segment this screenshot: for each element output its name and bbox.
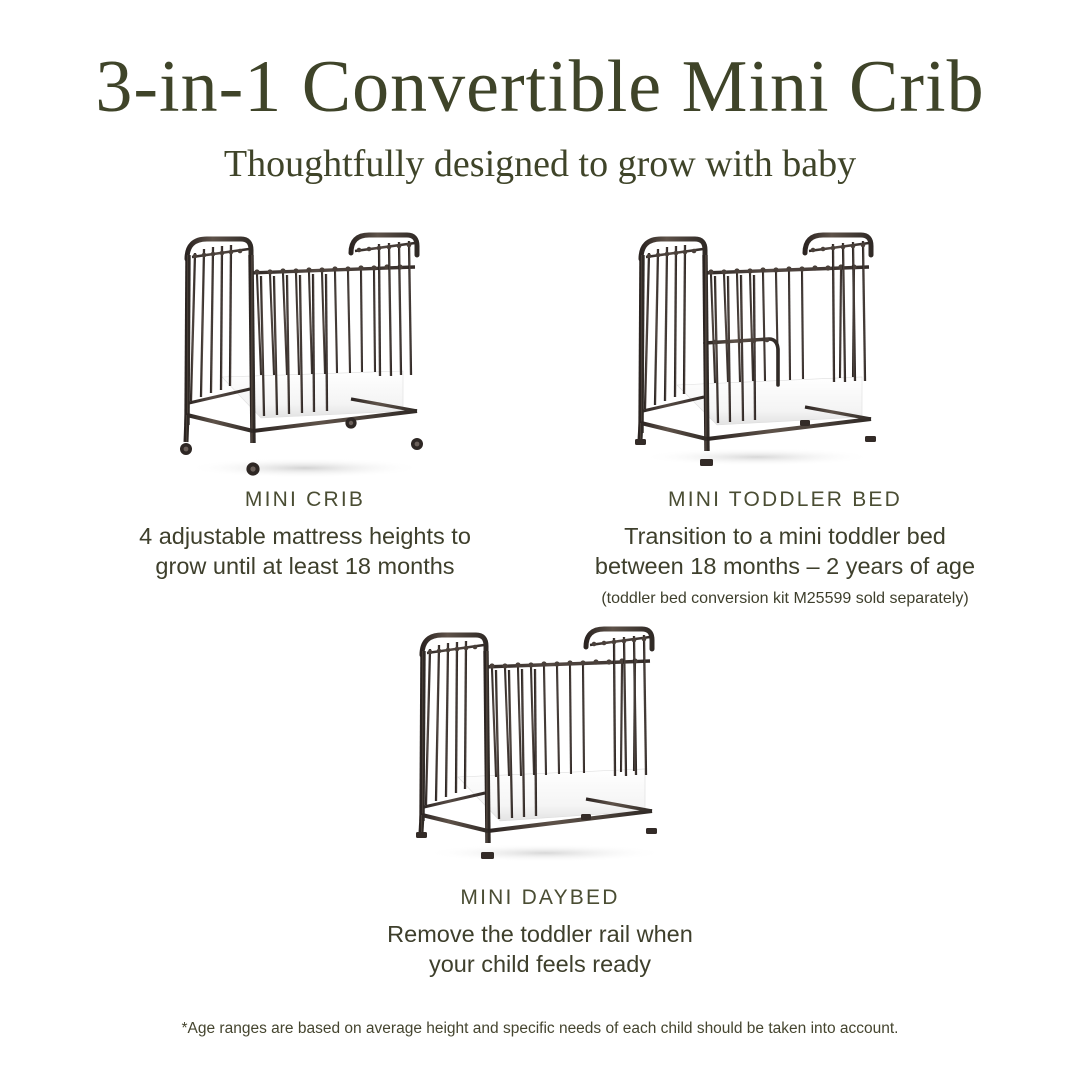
caption-line-2: grow until at least 18 months bbox=[55, 551, 555, 581]
right-panel-spindles bbox=[813, 241, 865, 383]
page-title: 3-in-1 Convertible Mini Crib bbox=[0, 44, 1080, 130]
caption-note-conversion-kit: (toddler bed conversion kit M25599 sold … bbox=[545, 587, 1025, 611]
caption-line-1: Remove the toddler rail when bbox=[290, 919, 790, 949]
floor-shadow bbox=[187, 458, 423, 478]
mini-crib-illustration bbox=[165, 225, 435, 480]
post-front-center bbox=[486, 651, 488, 843]
post-front-center bbox=[251, 255, 253, 443]
floor-shadow bbox=[641, 448, 873, 466]
caption-title-mini-daybed: MINI DAYBED bbox=[290, 886, 790, 910]
caption-line-2: between 18 months – 2 years of age bbox=[545, 551, 1025, 581]
product-infographic: 3-in-1 Convertible Mini Crib Thoughtfull… bbox=[0, 0, 1080, 1080]
caption-line-1: 4 adjustable mattress heights to bbox=[55, 521, 555, 551]
caption-mini-toddler-bed: MINI TODDLER BED Transition to a mini to… bbox=[545, 488, 1025, 611]
caption-line-1: Transition to a mini toddler bed bbox=[545, 521, 1025, 551]
header: 3-in-1 Convertible Mini Crib Thoughtfull… bbox=[0, 44, 1080, 188]
caption-mini-daybed: MINI DAYBED Remove the toddler rail when… bbox=[290, 886, 790, 979]
mattress bbox=[222, 371, 403, 418]
left-panel-spindles bbox=[645, 244, 694, 409]
post-front-left bbox=[422, 651, 423, 821]
footnote-age-ranges: *Age ranges are based on average height … bbox=[0, 1020, 1080, 1038]
right-panel-spindles bbox=[359, 241, 411, 377]
mini-toddler-bed-illustration bbox=[617, 225, 887, 480]
post-front-left bbox=[641, 255, 642, 433]
caption-title-mini-crib: MINI CRIB bbox=[55, 488, 555, 512]
caption-line-2: your child feels ready bbox=[290, 949, 790, 979]
caption-title-mini-toddler-bed: MINI TODDLER BED bbox=[545, 488, 1025, 512]
post-front-center bbox=[705, 255, 707, 451]
mini-daybed-illustration bbox=[400, 625, 680, 870]
right-panel-spindles bbox=[594, 635, 646, 777]
caption-mini-crib: MINI CRIB 4 adjustable mattress heights … bbox=[55, 488, 555, 581]
post-front-left bbox=[187, 255, 188, 425]
floor-shadow bbox=[425, 844, 665, 862]
page-subtitle: Thoughtfully designed to grow with baby bbox=[0, 140, 1080, 188]
